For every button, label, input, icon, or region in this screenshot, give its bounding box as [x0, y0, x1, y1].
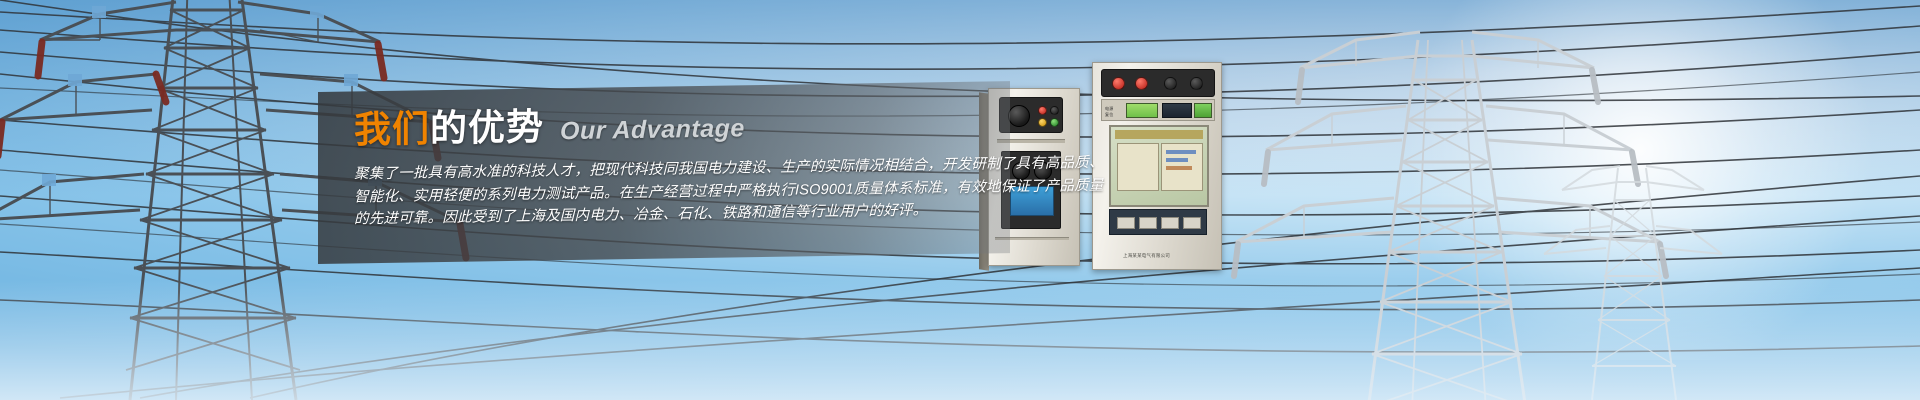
page-title: 我们的优势 [354, 108, 544, 148]
instrument-right-lcd-bar-2 [1166, 158, 1188, 162]
instrument-right-meter-row: 电源 复位 [1101, 99, 1215, 121]
instrument-right-indicator [1194, 103, 1212, 118]
instrument-right-button-4[interactable] [1183, 217, 1201, 229]
advantage-banner: 电源 复位 [0, 0, 1920, 400]
instrument-right-lcd-screen [1109, 125, 1209, 207]
power-test-instrument-right: 电源 复位 [1092, 62, 1222, 270]
instrument-left-terminal-red[interactable] [1038, 106, 1047, 115]
description-text: 聚集了一批具有高水准的科技人才，把现代科技同我国电力建设、生产的实际情况相结合，… [354, 153, 1006, 231]
instrument-right-body: 电源 复位 [1092, 62, 1222, 270]
instrument-right-button-3[interactable] [1161, 217, 1179, 229]
instrument-right-terminal-black-2[interactable] [1190, 77, 1203, 90]
instrument-right-lcd-bar-3 [1166, 166, 1192, 170]
text-overlay-content: 我们的优势 Our Advantage 聚集了一批具有高水准的科技人才，把现代科… [354, 101, 1006, 231]
instrument-right-lcd-header [1115, 130, 1203, 139]
instrument-right-terminal-red-2[interactable] [1135, 77, 1148, 90]
instrument-right-lcd-pane-left [1117, 143, 1159, 191]
instrument-left-terminal-green[interactable] [1050, 118, 1059, 127]
instrument-right-lcd-pane-right [1161, 143, 1203, 191]
instrument-right-terminal-red[interactable] [1112, 77, 1125, 90]
instrument-left-terminal-yellow[interactable] [1038, 118, 1047, 127]
page-subtitle-english: Our Advantage [560, 114, 745, 146]
instrument-left-terminal-black[interactable] [1050, 106, 1059, 115]
instrument-right-digit-display [1162, 103, 1192, 118]
instrument-right-brand-label: 上海某某电气有限公司 [1123, 253, 1170, 259]
instrument-right-terminal-block [1101, 69, 1215, 97]
title-row: 我们的优势 Our Advantage [354, 101, 1006, 149]
instrument-right-button-panel [1109, 209, 1207, 235]
instrument-right-lcd-bar-1 [1166, 150, 1196, 154]
text-overlay-content-wrapper: 我们的优势 Our Advantage 聚集了一批具有高水准的科技人才，把现代科… [318, 81, 1018, 268]
instrument-right-meter-label-b: 复位 [1105, 112, 1113, 118]
instrument-right-green-display [1126, 103, 1158, 118]
title-highlight: 我们 [354, 108, 430, 150]
title-plain: 的优势 [430, 106, 544, 149]
instrument-right-button-1[interactable] [1117, 217, 1135, 229]
instrument-right-terminal-black[interactable] [1164, 77, 1177, 90]
instrument-right-button-2[interactable] [1139, 217, 1157, 229]
ground-haze [0, 280, 1920, 400]
